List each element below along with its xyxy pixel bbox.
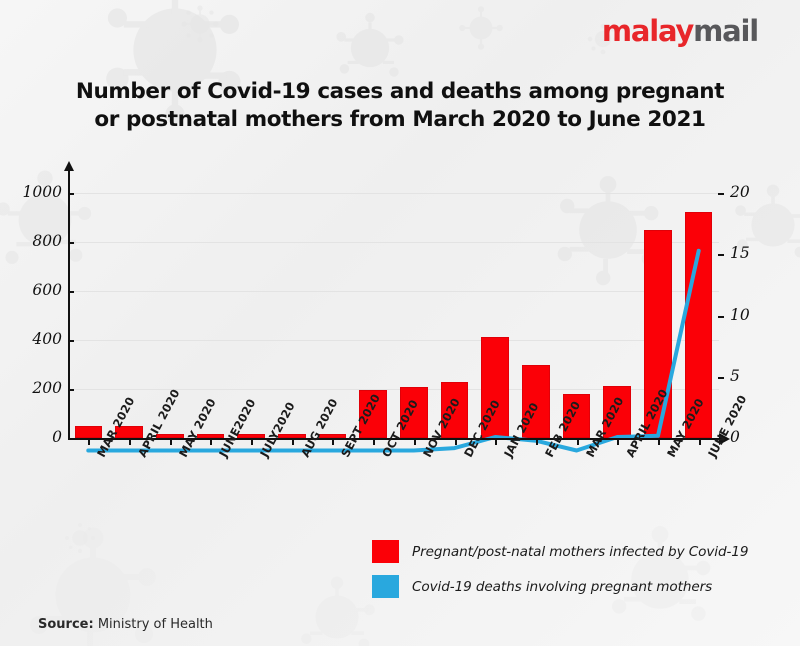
y-axis-arrow-icon [64, 161, 74, 171]
y-tick-label-left: 1000 [23, 183, 62, 201]
virus-graphic-icon [292, 572, 382, 646]
chart-legend: Pregnant/post-natal mothers infected by … [372, 540, 748, 610]
x-tick [536, 439, 538, 445]
x-tick [699, 439, 701, 445]
y-tick-label-left: 800 [32, 232, 62, 250]
red-square-swatch [372, 540, 399, 563]
y-tick-left [68, 340, 74, 342]
source-value: Ministry of Health [94, 617, 213, 632]
x-tick [455, 439, 457, 445]
y-tick-right [718, 254, 724, 256]
y-tick-label-left: 400 [32, 330, 62, 348]
x-tick [577, 439, 579, 445]
x-tick [617, 439, 619, 445]
x-tick [658, 439, 660, 445]
blue-square-swatch [372, 575, 399, 598]
legend-item: Pregnant/post-natal mothers infected by … [372, 540, 748, 563]
x-tick [495, 439, 497, 445]
x-tick [170, 439, 172, 445]
source-note: Source: Ministry of Health [38, 617, 213, 632]
chart-title: Number of Covid-19 cases and deaths amon… [0, 78, 800, 135]
y-tick-left [68, 242, 74, 244]
y-tick-label-right: 20 [730, 183, 750, 201]
virus-graphic-icon [330, 8, 410, 88]
x-tick [129, 439, 131, 445]
y-axis-left [68, 170, 70, 438]
malaymail-logo: malaymail [602, 17, 758, 46]
virus-graphic-icon [62, 520, 98, 556]
y-tick-right [718, 193, 724, 195]
y-tick-left [68, 193, 74, 195]
y-tick-right [718, 377, 724, 379]
legend-item: Covid-19 deaths involving pregnant mothe… [372, 575, 748, 598]
source-label: Source: [38, 617, 94, 632]
x-tick [373, 439, 375, 445]
logo-text-mail: mail [693, 14, 758, 48]
y-tick-label-right: 5 [730, 367, 740, 385]
y-tick-label-right: 10 [730, 306, 750, 324]
y-tick-right [718, 316, 724, 318]
x-tick [251, 439, 253, 445]
x-tick [210, 439, 212, 445]
legend-label: Covid-19 deaths involving pregnant mothe… [412, 579, 712, 595]
logo-text-malay: malay [602, 14, 693, 48]
y-tick-label-left: 200 [32, 379, 62, 397]
x-tick [88, 439, 90, 445]
virus-graphic-icon [455, 2, 507, 54]
virus-graphic-icon [178, 2, 222, 46]
chart-title-line-1: Number of Covid-19 cases and deaths amon… [0, 78, 800, 106]
x-tick [292, 439, 294, 445]
y-tick-left [68, 389, 74, 391]
y-tick-label-right: 15 [730, 244, 750, 262]
infographic-page: malaymail Number of Covid-19 cases and d… [0, 0, 800, 646]
x-tick [414, 439, 416, 445]
y-tick-label-left: 0 [52, 428, 62, 446]
chart-area: MAR 2020APRIL 2020MAY 2020JUNE2020JULY20… [68, 170, 724, 440]
chart-title-line-2: or postnatal mothers from March 2020 to … [0, 106, 800, 134]
y-tick-left [68, 291, 74, 293]
legend-label: Pregnant/post-natal mothers infected by … [412, 544, 748, 560]
y-tick-label-left: 600 [32, 281, 62, 299]
x-tick [332, 439, 334, 445]
y-tick-left [68, 438, 74, 440]
y-tick-label-right: 0 [730, 428, 740, 446]
